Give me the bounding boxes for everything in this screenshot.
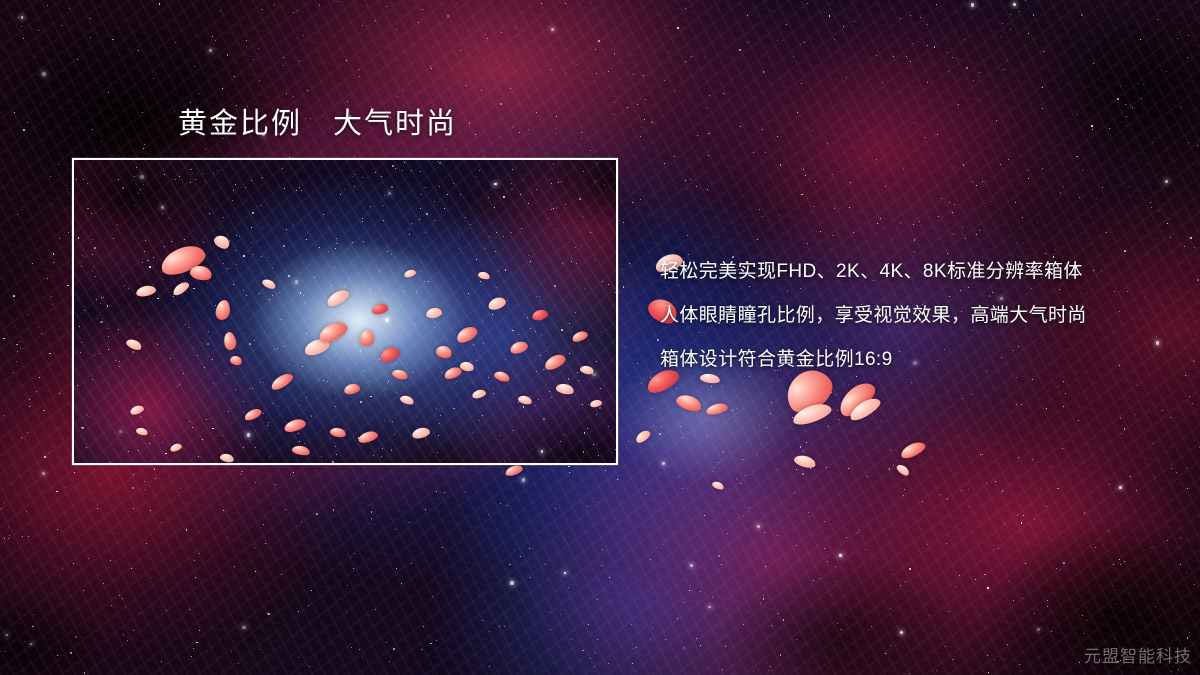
body-line-3: 箱体设计符合黄金比例16:9 [660,338,1130,382]
framed-image-content [74,160,616,463]
watermark: 元盟智能科技 [1084,642,1192,667]
body-line-2: 人体眼睛瞳孔比例，享受视觉效果，高端大气时尚 [660,294,1130,338]
page-title: 黄金比例 大气时尚 [178,100,457,142]
body-line-1: 轻松完美实现FHD、2K、4K、8K标准分辨率箱体 [660,250,1130,294]
framed-image [72,158,618,465]
body-copy: 轻松完美实现FHD、2K、4K、8K标准分辨率箱体 人体眼睛瞳孔比例，享受视觉效… [660,250,1130,382]
slide-canvas: 黄金比例 大气时尚 轻松完美实现FHD、2K、4K、8K标准分辨率箱体 人体眼睛… [0,0,1200,675]
